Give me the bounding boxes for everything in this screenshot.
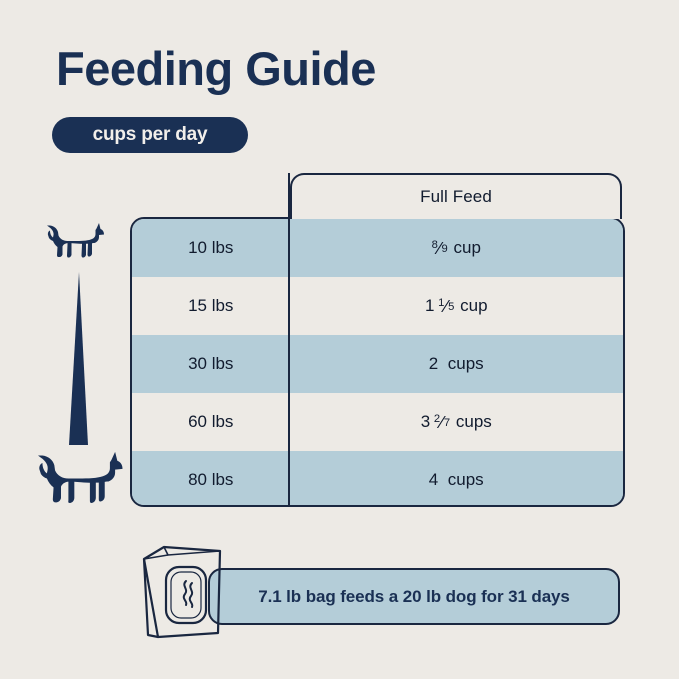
full-feed-header-label: Full Feed: [420, 187, 492, 207]
amount-whole: 3: [421, 412, 430, 432]
growth-triangle-icon: [62, 272, 96, 445]
fraction-denominator: 5: [448, 302, 454, 313]
subtitle-badge: cups per day: [52, 117, 248, 153]
amount-unit: cup: [454, 238, 481, 258]
amount-unit: cups: [456, 412, 492, 432]
cell-amount: 8⁄9cup: [290, 219, 624, 277]
subtitle-badge-label: cups per day: [93, 124, 208, 146]
cell-amount: 32⁄7cups: [290, 393, 624, 451]
callout-text: 7.1 lb bag feeds a 20 lb dog for 31 days: [258, 587, 570, 607]
fraction-denominator: 7: [444, 418, 450, 429]
amount-whole: 1: [425, 296, 434, 316]
cell-amount: 2cups: [290, 335, 624, 393]
table-body: 10 lbs 8⁄9cup 15 lbs 11⁄5cup 30 lbs 2cup…: [130, 217, 625, 507]
amount-fraction: 8⁄9cup: [432, 238, 481, 259]
dog-silhouette-small-icon: [47, 222, 105, 267]
cell-weight: 60 lbs: [132, 393, 290, 451]
amount-unit: cup: [460, 296, 487, 316]
table-row: 10 lbs 8⁄9cup: [132, 219, 623, 277]
feeding-table: Full Feed 10 lbs 8⁄9cup 15 lbs 11⁄5cup 3…: [130, 170, 625, 510]
table-column-divider: [288, 173, 291, 507]
table-header-full-feed: Full Feed: [290, 173, 622, 219]
cell-weight: 10 lbs: [132, 219, 290, 277]
dog-silhouette-large-icon: [38, 450, 124, 515]
amount-whole: 4: [429, 470, 438, 490]
callout-bar: 7.1 lb bag feeds a 20 lb dog for 31 days: [208, 568, 620, 625]
fraction-numerator: 1: [438, 298, 444, 309]
flame-swirl-logo: [184, 581, 193, 607]
table-row: 30 lbs 2cups: [132, 335, 623, 393]
table-row: 60 lbs 32⁄7cups: [132, 393, 623, 451]
table-row: 80 lbs 4cups: [132, 451, 623, 507]
cell-amount: 4cups: [290, 451, 624, 507]
amount-fraction: 11⁄5cup: [425, 296, 488, 317]
fraction-denominator: 9: [441, 244, 447, 255]
food-bag-icon: [136, 541, 240, 646]
amount-unit: cups: [448, 470, 484, 490]
amount-whole: 2: [429, 354, 438, 374]
amount-fraction: 4cups: [429, 470, 484, 490]
amount-fraction: 2cups: [429, 354, 484, 374]
cell-amount: 11⁄5cup: [290, 277, 624, 335]
cell-weight: 80 lbs: [132, 451, 290, 507]
cell-weight: 30 lbs: [132, 335, 290, 393]
amount-unit: cups: [448, 354, 484, 374]
cell-weight: 15 lbs: [132, 277, 290, 335]
table-row: 15 lbs 11⁄5cup: [132, 277, 623, 335]
amount-fraction: 32⁄7cups: [421, 412, 492, 433]
fraction-numerator: 8: [432, 240, 438, 251]
page-title: Feeding Guide: [56, 44, 376, 93]
feeding-guide-infographic: Feeding Guide cups per day Ful: [0, 0, 679, 679]
fraction-numerator: 2: [434, 414, 440, 425]
